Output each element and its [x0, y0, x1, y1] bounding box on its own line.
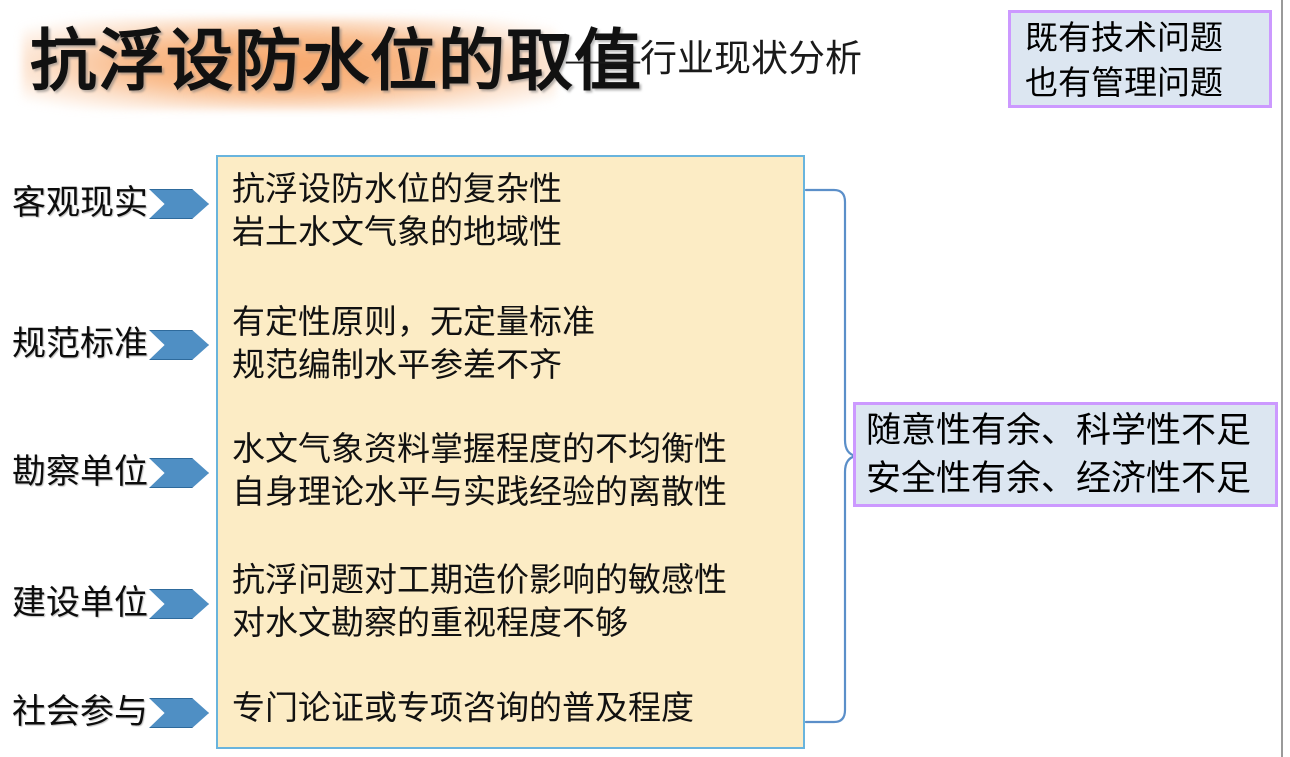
note-box-line-1: 既有技术问题 [1025, 17, 1269, 62]
content-line-1-1: 规范编制水平参差不齐 [232, 345, 802, 388]
page-title: 抗浮设防水位的取值 [30, 17, 642, 107]
category-label-3: 建设单位 [0, 581, 148, 627]
brace-path [806, 190, 856, 722]
content-line-1-0: 有定性原则，无定量标准 [232, 302, 802, 345]
right-edge-rule [1281, 0, 1283, 757]
slide-title-block: 抗浮设防水位的取值 抗浮设防水位的取值 [14, 8, 574, 148]
content-line-2-0: 水文气象资料掌握程度的不均衡性 [232, 429, 802, 472]
title-reflection-wrapper: 抗浮设防水位的取值 [14, 104, 574, 156]
content-line-2-1: 自身理论水平与实践经验的离散性 [232, 472, 802, 515]
chevron-right-icon [149, 458, 209, 488]
chevron-right-icon [149, 330, 209, 360]
chevron-right-icon [149, 589, 209, 619]
content-line-0-1: 岩土水文气象的地域性 [232, 212, 802, 255]
category-label-2: 勘察单位 [0, 450, 148, 496]
chevron-right-icon [149, 189, 209, 219]
content-line-4-0: 专门论证或专项咨询的普及程度 [232, 688, 802, 731]
category-label-row-2: 勘察单位 [0, 450, 209, 496]
category-label-1: 规范标准 [0, 322, 148, 368]
category-label-0: 客观现实 [0, 181, 148, 227]
content-group-3: 抗浮问题对工期造价影响的敏感性 对水文勘察的重视程度不够 [232, 560, 802, 646]
conclusion-line-2: 安全性有余、经济性不足 [866, 455, 1275, 503]
category-label-row-3: 建设单位 [0, 581, 209, 627]
category-label-4: 社会参与 [0, 690, 148, 736]
category-label-row-0: 客观现实 [0, 181, 209, 227]
content-line-0-0: 抗浮设防水位的复杂性 [232, 169, 802, 212]
page-subtitle: ——行业现状分析 [566, 38, 862, 82]
content-group-0: 抗浮设防水位的复杂性 岩土水文气象的地域性 [232, 169, 802, 255]
content-group-2: 水文气象资料掌握程度的不均衡性 自身理论水平与实践经验的离散性 [232, 429, 802, 515]
content-group-4: 专门论证或专项咨询的普及程度 [232, 688, 802, 731]
content-line-3-1: 对水文勘察的重视程度不够 [232, 603, 802, 646]
category-label-row-4: 社会参与 [0, 690, 209, 736]
conclusion-line-1: 随意性有余、科学性不足 [866, 407, 1275, 455]
content-line-3-0: 抗浮问题对工期造价影响的敏感性 [232, 560, 802, 603]
category-label-row-1: 规范标准 [0, 322, 209, 368]
chevron-right-icon [149, 698, 209, 728]
content-group-1: 有定性原则，无定量标准 规范编制水平参差不齐 [232, 302, 802, 388]
conclusion-box: 随意性有余、科学性不足 安全性有余、经济性不足 [853, 402, 1278, 507]
note-box-line-2: 也有管理问题 [1025, 62, 1269, 107]
main-content-box: 抗浮设防水位的复杂性 岩土水文气象的地域性 有定性原则，无定量标准 规范编制水平… [216, 155, 805, 749]
note-box: 既有技术问题 也有管理问题 [1008, 10, 1272, 108]
